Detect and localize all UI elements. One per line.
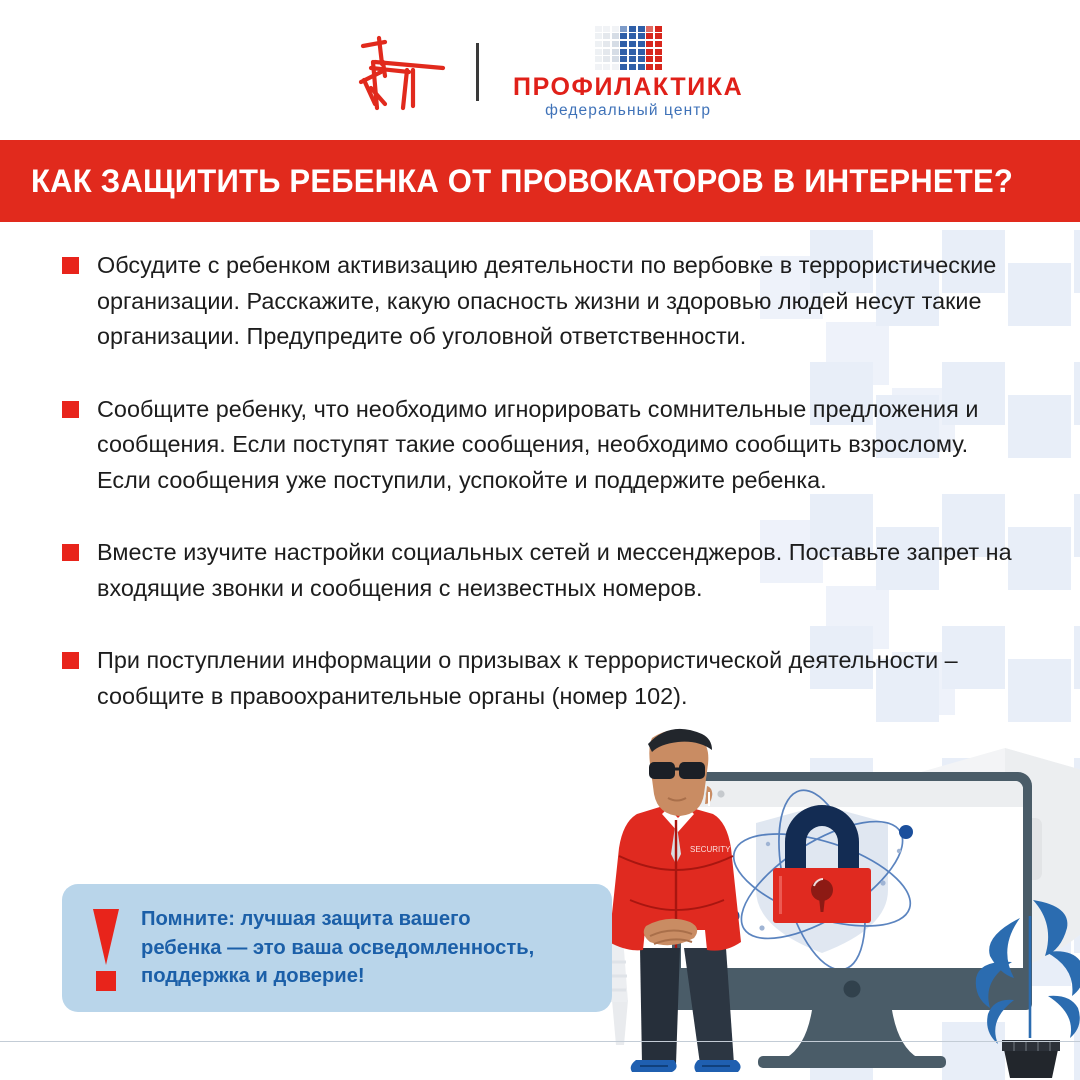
- pixel-cell: [612, 64, 619, 70]
- pixel-cell: [629, 56, 636, 62]
- bullet-marker: [62, 544, 79, 561]
- pixel-cell: [646, 56, 653, 62]
- pixel-cell: [595, 33, 602, 39]
- callout-text: Помните: лучшая защита вашего ребенка — …: [141, 905, 534, 991]
- pixel-cell: [612, 49, 619, 55]
- pixel-cell: [612, 33, 619, 39]
- pattern-square: [1008, 263, 1071, 326]
- pixel-cell: [638, 56, 645, 62]
- pixel-cell: [620, 64, 627, 70]
- pixel-cell: [629, 41, 636, 47]
- brand-subtitle: федеральный центр: [545, 103, 711, 119]
- advice-item-text: Обсудите с ребенком активизацию деятельн…: [97, 248, 1012, 355]
- pixel-cell: [603, 49, 610, 55]
- advice-item-text: Сообщите ребенку, что необходимо игнорир…: [97, 392, 1012, 499]
- pixel-cell: [629, 33, 636, 39]
- pattern-square: [1074, 230, 1080, 293]
- pixel-cell: [638, 26, 645, 32]
- pixel-cell: [603, 33, 610, 39]
- pattern-square: [1074, 494, 1080, 557]
- pixel-cell: [612, 26, 619, 32]
- pixel-cell: [638, 49, 645, 55]
- pixel-cell: [595, 64, 602, 70]
- pixel-cell: [620, 56, 627, 62]
- brand-name: ПРОФИЛАКТИКА: [513, 75, 743, 100]
- pixel-cell: [655, 56, 662, 62]
- pixel-cell: [603, 26, 610, 32]
- pixel-cell: [646, 26, 653, 32]
- pixel-cell: [646, 49, 653, 55]
- pattern-square: [1008, 527, 1071, 590]
- pixel-cell: [595, 26, 602, 32]
- jacket-badge-text: SECURITY: [690, 845, 731, 854]
- remember-callout: Помните: лучшая защита вашего ребенка — …: [62, 884, 612, 1012]
- pixel-cell: [655, 64, 662, 70]
- pixel-cell: [629, 64, 636, 70]
- bullet-marker: [62, 401, 79, 418]
- pixel-cell: [638, 64, 645, 70]
- exclamation-mark-icon: [89, 909, 123, 987]
- pixel-cell: [612, 56, 619, 62]
- advice-item: Вместе изучите настройки социальных сете…: [62, 535, 1012, 606]
- callout-line-2: ребенка — это ваша осведомленность,: [141, 934, 534, 963]
- brand-block: ПРОФИЛАКТИКА федеральный центр: [513, 26, 743, 118]
- pixel-grid-logo: [595, 26, 662, 70]
- advice-item-text: Вместе изучите настройки социальных сете…: [97, 535, 1012, 606]
- logo-divider: [476, 43, 479, 101]
- pixel-cell: [655, 26, 662, 32]
- callout-line-1: Помните: лучшая защита вашего: [141, 905, 534, 934]
- pixel-cell: [603, 64, 610, 70]
- pixel-cell: [612, 41, 619, 47]
- advice-item: Сообщите ребенку, что необходимо игнорир…: [62, 392, 1012, 499]
- pattern-square: [1008, 395, 1071, 458]
- poster-root: SECURITY: [0, 0, 1080, 1080]
- bullet-marker: [62, 652, 79, 669]
- pixel-cell: [638, 41, 645, 47]
- title-band: КАК ЗАЩИТИТЬ РЕБЕНКА ОТ ПРОВОКАТОРОВ В И…: [0, 140, 1080, 222]
- pixel-cell: [646, 33, 653, 39]
- advice-item-text: При поступлении информации о призывах к …: [97, 643, 1012, 714]
- page-title: КАК ЗАЩИТИТЬ РЕБЕНКА ОТ ПРОВОКАТОРОВ В И…: [31, 163, 1013, 200]
- pattern-square: [1074, 362, 1080, 425]
- pixel-cell: [646, 41, 653, 47]
- advice-item: Обсудите с ребенком активизацию деятельн…: [62, 248, 1012, 355]
- pixel-cell: [655, 49, 662, 55]
- advice-item: При поступлении информации о призывах к …: [62, 643, 1012, 714]
- pixel-cell: [595, 56, 602, 62]
- bullet-marker: [62, 257, 79, 274]
- pixel-cell: [620, 49, 627, 55]
- callout-line-3: поддержка и доверие!: [141, 962, 534, 991]
- deer-line-art-logo: [355, 32, 450, 112]
- pixel-cell: [620, 33, 627, 39]
- pixel-cell: [595, 49, 602, 55]
- pattern-square: [1074, 626, 1080, 689]
- pixel-cell: [620, 26, 627, 32]
- pixel-cell: [603, 56, 610, 62]
- pixel-cell: [655, 33, 662, 39]
- pixel-cell: [638, 33, 645, 39]
- logo-lockup: ПРОФИЛАКТИКА федеральный центр: [355, 22, 725, 122]
- pixel-cell: [629, 49, 636, 55]
- pixel-cell: [655, 41, 662, 47]
- pixel-cell: [603, 41, 610, 47]
- pixel-cell: [629, 26, 636, 32]
- poster-header: ПРОФИЛАКТИКА федеральный центр: [0, 0, 1080, 140]
- pixel-cell: [646, 64, 653, 70]
- pixel-cell: [620, 41, 627, 47]
- pixel-cell: [595, 41, 602, 47]
- advice-list: Обсудите с ребенком активизацию деятельн…: [62, 248, 1012, 714]
- ground-line: [0, 1041, 1080, 1042]
